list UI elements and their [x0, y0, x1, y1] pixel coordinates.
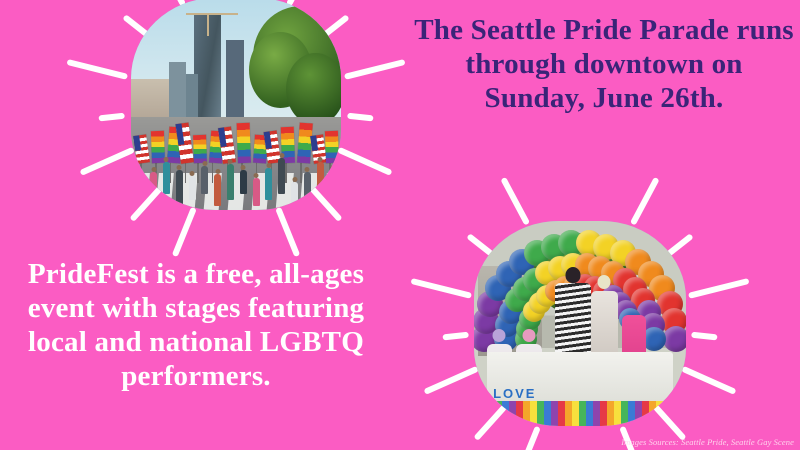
marcher: [278, 158, 285, 194]
sunburst-ray: [516, 426, 541, 450]
marcher: [304, 172, 311, 200]
marcher: [291, 182, 298, 206]
marcher: [265, 168, 272, 200]
sunburst-ray: [423, 366, 478, 395]
marcher: [201, 166, 208, 194]
photo-parade: [131, 0, 341, 210]
marcher: [253, 178, 260, 206]
photo-float-scene: LOVE: [474, 221, 686, 426]
marcher: [137, 182, 144, 206]
marcher: [317, 162, 324, 194]
marcher: [176, 170, 183, 206]
sunburst-ray: [500, 177, 530, 226]
love-sign: LOVE: [493, 386, 536, 401]
sunburst-ray: [410, 278, 472, 299]
sunburst-ray: [681, 366, 736, 395]
marcher: [227, 164, 234, 200]
sunburst-ray: [79, 147, 134, 176]
marcher: [240, 170, 247, 194]
sunburst-ray: [98, 113, 124, 122]
sunburst-ray: [691, 332, 717, 341]
marcher: [163, 162, 170, 194]
sunburst-ray: [275, 207, 300, 257]
sunburst-ray: [66, 59, 128, 80]
sunburst-ray: [630, 177, 660, 226]
marcher: [150, 172, 157, 200]
pride-info-slide: The Seattle Pride Parade runs through do…: [0, 0, 800, 450]
sunburst-ray: [172, 207, 197, 257]
marcher: [329, 170, 336, 206]
image-credit: Images Sources: Seattle Pride, Seattle G…: [621, 437, 794, 447]
sunburst-ray: [442, 332, 468, 341]
construction-crane-mast: [207, 13, 209, 36]
photo-parade-scene: [131, 0, 341, 210]
headline-text: The Seattle Pride Parade runs through do…: [414, 14, 794, 116]
sunburst-ray: [688, 278, 750, 299]
photo-float: LOVE: [474, 221, 686, 426]
marchers: [131, 121, 341, 210]
marcher: [189, 176, 196, 200]
body-copy-text: PrideFest is a free, all-ages event with…: [6, 258, 386, 394]
sunburst-ray: [347, 113, 373, 122]
construction-crane-arm: [186, 13, 239, 15]
rainbow-fringe: [474, 401, 686, 426]
sunburst-ray: [337, 147, 392, 176]
balloon: [663, 326, 686, 352]
sunburst-ray: [344, 59, 406, 80]
marcher: [214, 174, 221, 206]
